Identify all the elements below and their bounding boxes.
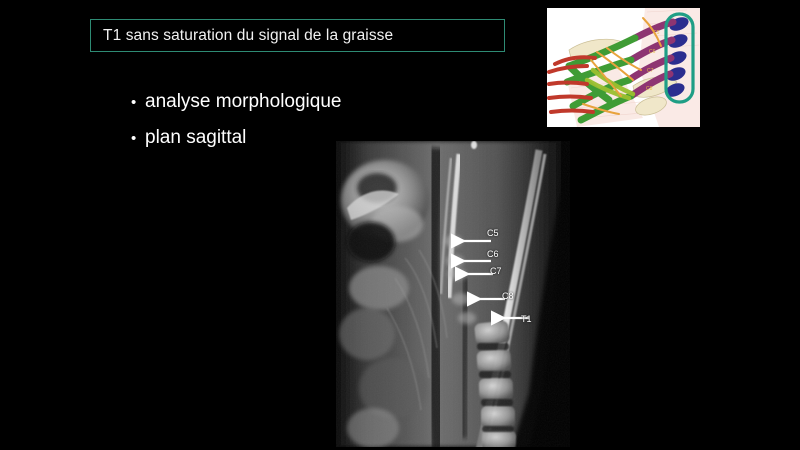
svg-text:C7: C7 <box>647 68 654 74</box>
bullet-label: analyse morphologique <box>145 92 341 111</box>
bullet-marker-icon: • <box>131 131 145 146</box>
brachial-plexus-diagram: C5 C6 C7 C8 <box>547 8 700 127</box>
mri-annotation-arrows <box>333 138 573 450</box>
slide-title-box: T1 sans saturation du signal de la grais… <box>90 19 505 52</box>
bullet-marker-icon: • <box>131 95 145 110</box>
list-item: • analyse morphologique <box>131 92 461 111</box>
bullet-label: plan sagittal <box>145 128 246 147</box>
mri-annotation-label-c6: C6 <box>487 249 499 259</box>
presentation-slide: T1 sans saturation du signal de la grais… <box>0 0 800 450</box>
mri-annotation-label-c7: C7 <box>490 266 502 276</box>
plexus-illustration: C5 C6 C7 C8 <box>547 8 700 127</box>
svg-text:C6: C6 <box>649 49 656 55</box>
page-title: T1 sans saturation du signal de la grais… <box>91 27 393 45</box>
mri-annotation-label-t1: T1 <box>521 314 532 324</box>
svg-text:C8: C8 <box>646 86 653 92</box>
mri-annotation-label-c5: C5 <box>487 228 499 238</box>
mri-annotation-label-c8: C8 <box>502 291 514 301</box>
